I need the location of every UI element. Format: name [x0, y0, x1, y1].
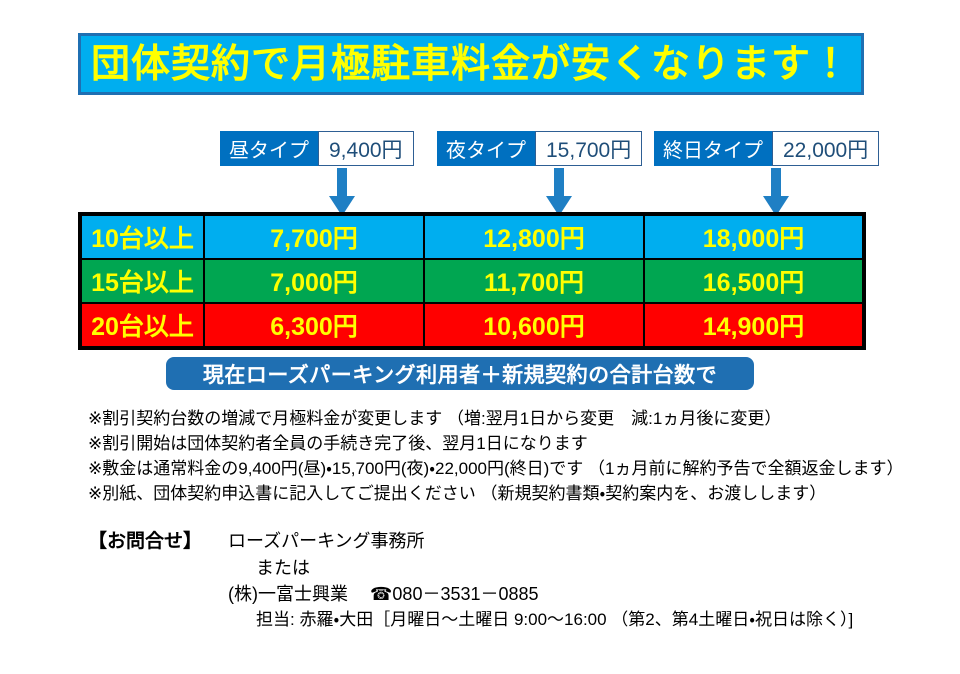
type-chip-day: 昼タイプ 9,400円 — [220, 131, 414, 166]
row-tier-label: 15台以上 — [80, 259, 204, 303]
type-chip-allday-label: 終日タイプ — [654, 131, 772, 166]
type-chip-day-price: 9,400円 — [318, 131, 414, 166]
type-chip-night: 夜タイプ 15,700円 — [437, 131, 642, 166]
contact-staff-hours: 担当: 赤羅・大田［月曜日〜土曜日 9:00〜16:00 （第2、第4土曜日・祝… — [228, 607, 853, 633]
contact-row-or: または — [88, 555, 918, 581]
contact-office-name: ローズパーキング事務所 — [228, 528, 425, 554]
sub-banner: 現在ローズパーキング利用者＋新規契約の合計台数で — [166, 357, 754, 390]
down-arrow-icon-allday — [763, 168, 789, 216]
type-chip-allday-price: 22,000円 — [772, 131, 879, 166]
type-chip-day-label: 昼タイプ — [220, 131, 318, 166]
type-chip-night-label: 夜タイプ — [437, 131, 535, 166]
arrow-shaft — [554, 168, 564, 198]
row-fee-day: 7,000円 — [204, 259, 424, 303]
arrow-shaft — [337, 168, 347, 198]
row-fee-allday: 14,900円 — [644, 303, 864, 348]
contact-or-label: または — [228, 555, 310, 581]
note-line: ※敷金は通常料金の9,400円(昼)・15,700円(夜)・22,000円(終日… — [88, 456, 908, 481]
contact-company-name: (株)一富士興業 — [228, 581, 348, 607]
sub-banner-label: 現在ローズパーキング利用者＋新規契約の合計台数で — [203, 359, 717, 389]
contact-phone-number[interactable]: 080－3531－0885 — [392, 581, 538, 607]
row-fee-night: 10,600円 — [424, 303, 644, 348]
contact-row-company: (株)一富士興業 ☎ 080－3531－0885 — [88, 581, 918, 607]
arrow-shaft — [771, 168, 781, 198]
row-fee-allday: 18,000円 — [644, 214, 864, 259]
contact-row-office: 【お問合せ】 ローズパーキング事務所 — [88, 528, 918, 555]
note-line: ※割引契約台数の増減で月極料金が変更します （増:翌月1日から変更 減:1ヵ月後… — [88, 406, 908, 431]
page-title: 団体契約で月極駐車料金が安くなります！ — [91, 45, 851, 84]
contact-heading: 【お問合せ】 — [88, 529, 228, 555]
note-line: ※別紙、団体契約申込書に記入してご提出ください （新規契約書類・契約案内を、お渡… — [88, 481, 908, 506]
type-chip-allday: 終日タイプ 22,000円 — [654, 131, 879, 166]
row-tier-label: 10台以上 — [80, 214, 204, 259]
phone-icon: ☎ — [348, 581, 392, 607]
row-fee-day: 6,300円 — [204, 303, 424, 348]
table-row: 20台以上 6,300円 10,600円 14,900円 — [80, 303, 864, 348]
contact-block: 【お問合せ】 ローズパーキング事務所 または (株)一富士興業 ☎ 080－35… — [88, 528, 918, 633]
down-arrow-icon-night — [546, 168, 572, 216]
row-fee-day: 7,700円 — [204, 214, 424, 259]
table-row: 10台以上 7,700円 12,800円 18,000円 — [80, 214, 864, 259]
row-fee-night: 12,800円 — [424, 214, 644, 259]
row-fee-allday: 16,500円 — [644, 259, 864, 303]
row-tier-label: 20台以上 — [80, 303, 204, 348]
row-fee-night: 11,700円 — [424, 259, 644, 303]
title-banner: 団体契約で月極駐車料金が安くなります！ — [78, 33, 864, 95]
down-arrow-icon-day — [329, 168, 355, 216]
table-row: 15台以上 7,000円 11,700円 16,500円 — [80, 259, 864, 303]
notes-list: ※割引契約台数の増減で月極料金が変更します （増:翌月1日から変更 減:1ヵ月後… — [88, 406, 908, 506]
contact-row-staff: 担当: 赤羅・大田［月曜日〜土曜日 9:00〜16:00 （第2、第4土曜日・祝… — [88, 607, 918, 633]
note-line: ※割引開始は団体契約者全員の手続き完了後、翌月1日になります — [88, 431, 908, 456]
type-chip-night-price: 15,700円 — [535, 131, 642, 166]
fee-table: 10台以上 7,700円 12,800円 18,000円 15台以上 7,000… — [78, 212, 866, 350]
